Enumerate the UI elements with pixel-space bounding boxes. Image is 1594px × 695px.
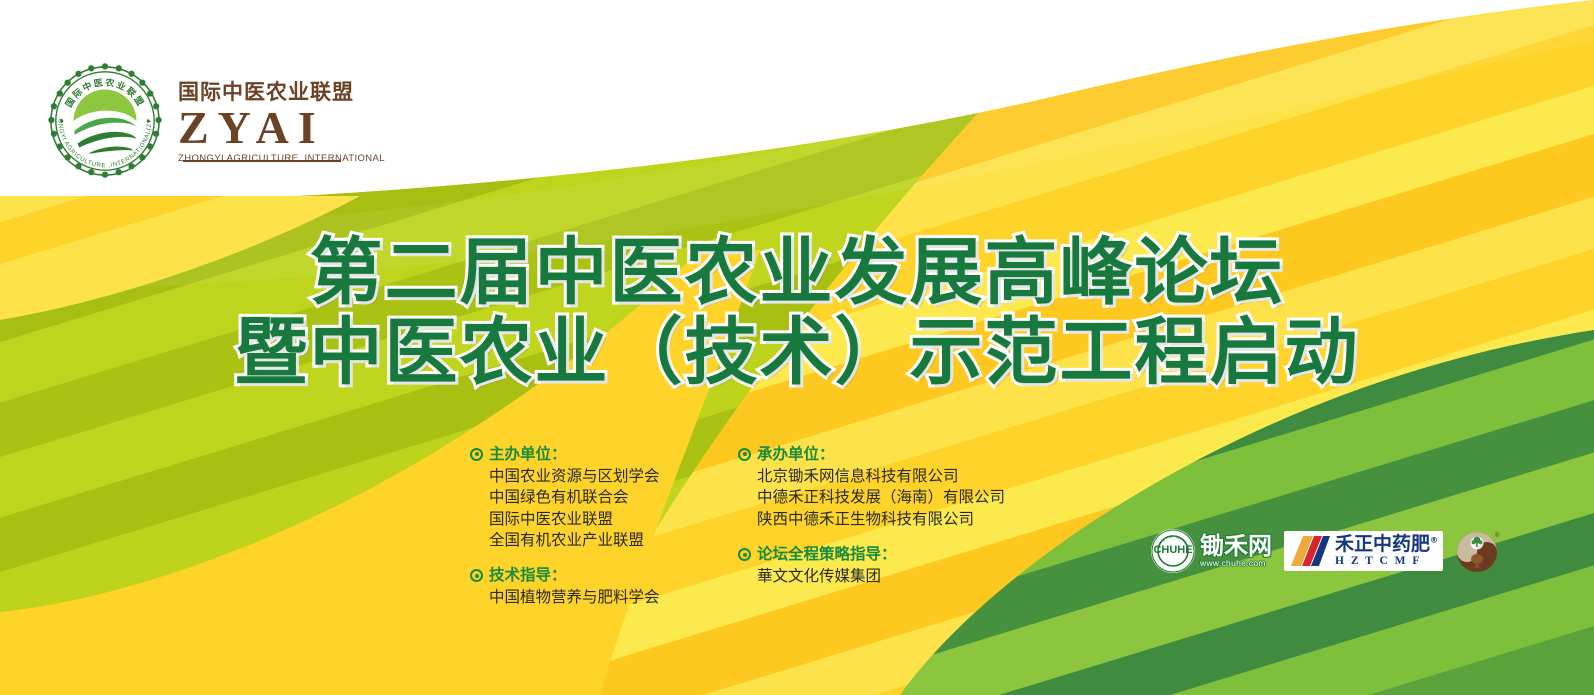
credit-item-list: 中国植物营养与肥料学会: [489, 587, 738, 608]
credit-item: 中国绿色有机联合会: [489, 487, 738, 508]
credit-heading-label: 承办单位：: [757, 444, 835, 465]
credits-column-left: 主办单位： 中国农业资源与区划学会 中国绿色有机联合会 国际中医农业联盟 全国有…: [470, 444, 738, 623]
credit-heading: 主办单位：: [470, 444, 738, 465]
logo-acronym: ZYAI: [178, 105, 385, 151]
diagonal-stripe-mark-icon: [1289, 534, 1331, 568]
credit-group: 论坛全程策略指导： 華文文化传媒集团: [738, 544, 1068, 587]
chuhe-seal-text: CHUHE: [1153, 544, 1192, 556]
credit-heading: 承办单位：: [738, 444, 1068, 465]
target-bullet-icon: [470, 448, 483, 461]
target-bullet-icon: [738, 548, 751, 561]
credit-item-list: 華文文化传媒集团: [757, 566, 1068, 587]
trademark-symbol: ®: [1430, 535, 1438, 544]
logo-name-en: ZHONGYI AGRICULTURE ,INTERNATIONAL: [178, 154, 385, 164]
zyai-seal-icon: 国际中医农业联盟 ZHONGYI AGRICULTURE ,INTERNATIO…: [46, 62, 164, 180]
credit-heading-label: 技术指导：: [489, 565, 567, 586]
logo-name-cn: 国际中医农业联盟: [178, 82, 385, 103]
zyai-wordmark: 国际中医农业联盟 ZYAI ZHONGYI AGRICULTURE ,INTER…: [178, 78, 385, 164]
chuhe-url: www.chuhe.com: [1200, 559, 1272, 568]
chuhe-wordmark: 锄禾网 www.chuhe.com: [1200, 534, 1272, 568]
credit-item: 国际中医农业联盟: [489, 509, 738, 530]
target-bullet-icon: [738, 448, 751, 461]
credit-group: 承办单位： 北京锄禾网信息科技有限公司 中德禾正科技发展（海南）有限公司 陕西中…: [738, 444, 1068, 530]
credit-item: 全国有机农业产业联盟: [489, 530, 738, 551]
credit-item: 陕西中德禾正生物科技有限公司: [757, 509, 1068, 530]
plant-root-circle-icon: ®: [1455, 528, 1501, 574]
credit-item: 中国植物营养与肥料学会: [489, 587, 738, 608]
credit-item: 華文文化传媒集团: [757, 566, 1068, 587]
zyai-logo-lockup: 国际中医农业联盟 ZHONGYI AGRICULTURE ,INTERNATIO…: [46, 62, 385, 180]
credit-item: 中国农业资源与区划学会: [489, 466, 738, 487]
conference-banner: 国际中医农业联盟 ZHONGYI AGRICULTURE ,INTERNATIO…: [0, 0, 1594, 695]
target-bullet-icon: [470, 569, 483, 582]
sponsor-logo-chuhe[interactable]: CHUHE WANG CHUHE 锄禾网 www.chuhe.com: [1150, 528, 1272, 574]
chuhe-seal-icon: CHUHE WANG CHUHE: [1150, 528, 1196, 574]
sponsor-logos: CHUHE WANG CHUHE 锄禾网 www.chuhe.com 禾正中药肥…: [1150, 528, 1501, 574]
credit-item-list: 北京锄禾网信息科技有限公司 中德禾正科技发展（海南）有限公司 陕西中德禾正生物科…: [757, 466, 1068, 530]
credit-heading: 技术指导：: [470, 565, 738, 586]
logo-underline: [183, 160, 341, 162]
hztcmf-wordmark: 禾正中药肥® H Z T C M F: [1335, 535, 1438, 568]
credit-group: 技术指导： 中国植物营养与肥料学会: [470, 565, 738, 608]
credit-heading-label: 论坛全程策略指导：: [757, 544, 897, 565]
credit-item: 中德禾正科技发展（海南）有限公司: [757, 487, 1068, 508]
trademark-symbol: ®: [1495, 532, 1500, 539]
credits-block: 主办单位： 中国农业资源与区划学会 中国绿色有机联合会 国际中医农业联盟 全国有…: [470, 444, 1090, 623]
hztcmf-name-en: H Z T C M F: [1335, 556, 1438, 568]
credit-heading-label: 主办单位：: [489, 444, 567, 465]
hztcmf-name-cn: 禾正中药肥®: [1335, 535, 1438, 554]
chuhe-name-cn: 锄禾网: [1200, 534, 1272, 558]
credit-item-list: 中国农业资源与区划学会 中国绿色有机联合会 国际中医农业联盟 全国有机农业产业联…: [489, 466, 738, 552]
credit-item: 北京锄禾网信息科技有限公司: [757, 466, 1068, 487]
credits-column-right: 承办单位： 北京锄禾网信息科技有限公司 中德禾正科技发展（海南）有限公司 陕西中…: [738, 444, 1068, 623]
credit-group: 主办单位： 中国农业资源与区划学会 中国绿色有机联合会 国际中医农业联盟 全国有…: [470, 444, 738, 551]
sponsor-logo-hztcmf[interactable]: 禾正中药肥® H Z T C M F: [1284, 531, 1443, 571]
sponsor-logo-third[interactable]: ®: [1455, 528, 1501, 574]
credit-heading: 论坛全程策略指导：: [738, 544, 1068, 565]
